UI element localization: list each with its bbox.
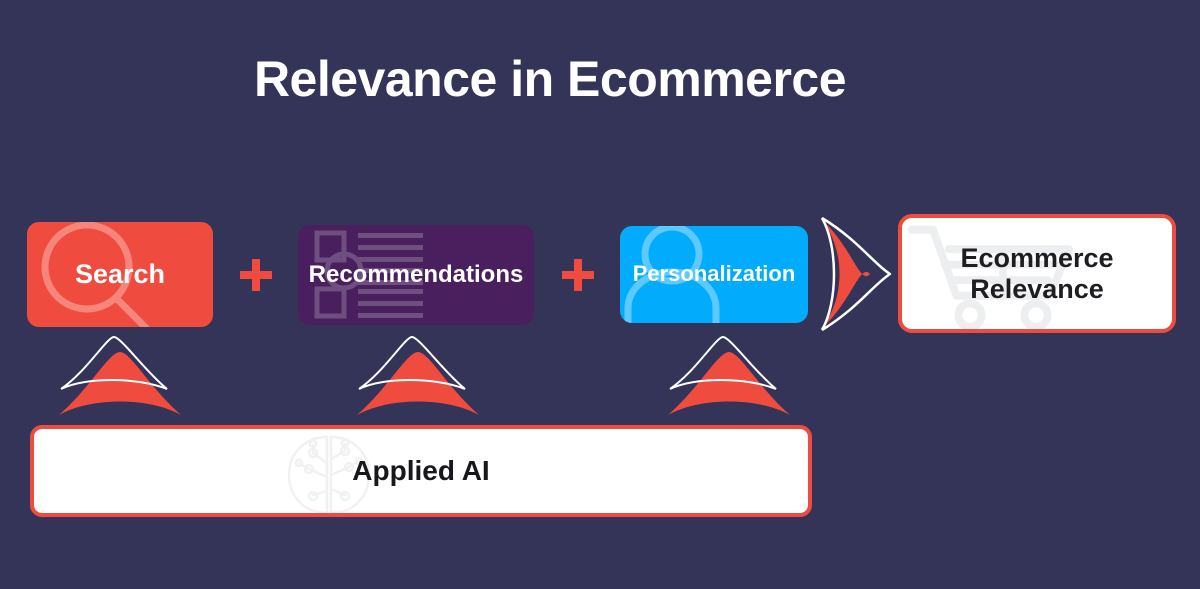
foundation-bar-applied-ai[interactable]: Applied AI (30, 425, 812, 517)
plus-icon (239, 258, 273, 292)
result-card-ecommerce-relevance[interactable]: Ecommerce Relevance (898, 214, 1176, 333)
chevron-up-arrow-icon (57, 335, 183, 417)
diagram-canvas: Relevance in Ecommerce Search (0, 0, 1200, 589)
page-title: Relevance in Ecommerce (0, 52, 1100, 107)
plus-icon (561, 258, 595, 292)
chevron-right-arrow-icon (812, 216, 902, 332)
component-label-personalization: Personalization (620, 226, 808, 323)
component-card-search[interactable]: Search (27, 222, 213, 327)
component-label-recommendations: Recommendations (298, 225, 534, 325)
chevron-up-arrow-icon (355, 335, 481, 417)
component-label-search: Search (27, 222, 213, 327)
foundation-label: Applied AI (34, 429, 808, 513)
component-card-recommendations[interactable]: Recommendations (298, 225, 534, 325)
chevron-up-arrow-icon (666, 335, 792, 417)
result-label-line-1: Ecommerce (960, 243, 1113, 273)
result-label: Ecommerce Relevance (902, 218, 1172, 329)
component-card-personalization[interactable]: Personalization (620, 226, 808, 323)
result-label-line-2: Relevance (970, 274, 1104, 304)
